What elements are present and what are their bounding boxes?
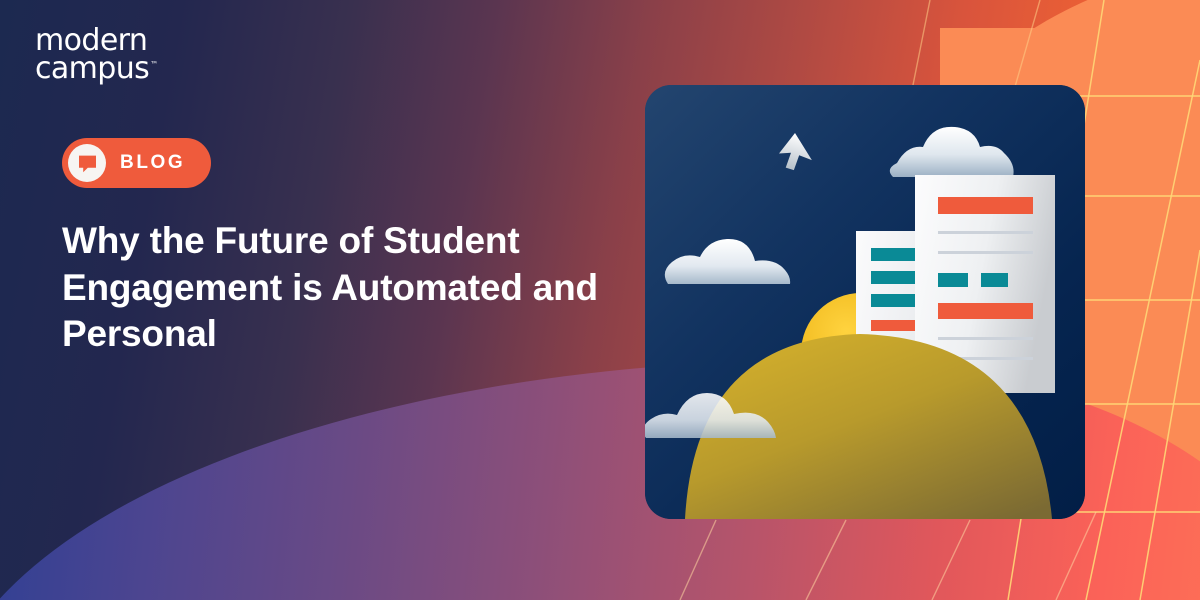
logo-line-campus: campus xyxy=(35,51,149,86)
blog-badge-label: BLOG xyxy=(120,152,185,174)
trademark-symbol: ™ xyxy=(150,60,158,69)
hero-illustration xyxy=(645,85,1085,519)
blog-banner: modern campus™ BLOG Why the Future of St… xyxy=(0,0,1200,600)
speech-bubble-icon xyxy=(68,144,106,182)
doc-bar-orange-bottom xyxy=(938,303,1033,319)
page-title: Why the Future of Student Engagement is … xyxy=(62,218,622,358)
brand-logo[interactable]: modern campus™ xyxy=(35,27,158,83)
doc-block-teal-right xyxy=(981,273,1008,287)
doc-bar-orange-top xyxy=(938,197,1033,214)
illustration-scene xyxy=(645,85,1085,519)
doc-block-teal-left xyxy=(938,273,968,287)
blog-badge[interactable]: BLOG xyxy=(62,138,211,188)
